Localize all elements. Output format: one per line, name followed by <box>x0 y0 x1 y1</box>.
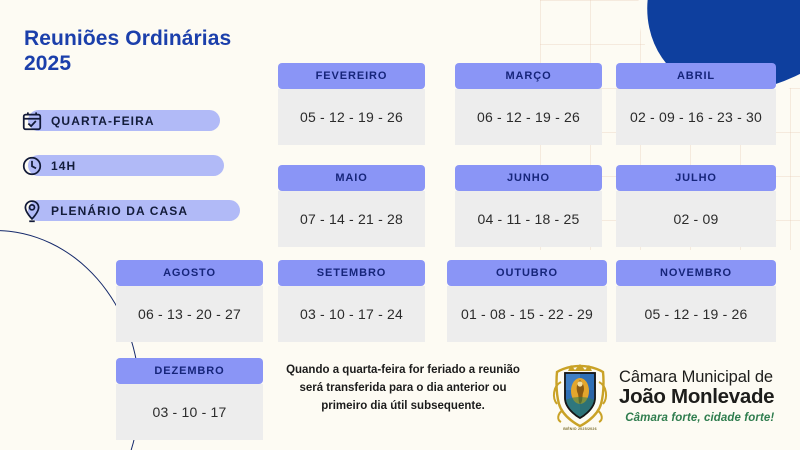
page-title-line-2: 2025 <box>24 52 274 77</box>
info-pill-location: PLENÁRIO DA CASA <box>20 198 255 224</box>
info-pill-weekday-label: QUARTA-FEIRA <box>51 114 155 128</box>
month-card-header: NOVEMBRO <box>616 260 776 286</box>
page-title-line-1: Reuniões Ordinárias <box>24 27 231 50</box>
month-card-agosto[interactable]: AGOSTO 06 - 13 - 20 - 27 <box>116 260 263 342</box>
month-card-dates: 05 - 12 - 19 - 26 <box>278 89 425 145</box>
month-card-dates: 03 - 10 - 17 <box>116 384 263 440</box>
institution-logo: BIÊNIO 2025/2026 Câmara Municipal de Joã… <box>549 360 774 432</box>
month-card-header: SETEMBRO <box>278 260 425 286</box>
holiday-note: Quando a quarta-feira for feriado a reun… <box>272 362 534 415</box>
month-card-header: DEZEMBRO <box>116 358 263 384</box>
emblem-caption: BIÊNIO 2025/2026 <box>549 427 611 431</box>
month-card-dates: 06 - 12 - 19 - 26 <box>455 89 602 145</box>
logo-tagline: Câmara forte, cidade forte! <box>619 412 774 424</box>
logo-line-1: Câmara Municipal de <box>619 368 774 386</box>
month-card-dates: 02 - 09 - 16 - 23 - 30 <box>616 89 776 145</box>
month-card-header: FEVEREIRO <box>278 63 425 89</box>
month-card-julho[interactable]: JULHO 02 - 09 <box>616 165 776 247</box>
month-card-dates: 04 - 11 - 18 - 25 <box>455 191 602 247</box>
month-card-header: OUTUBRO <box>447 260 607 286</box>
month-card-marco[interactable]: MARÇO 06 - 12 - 19 - 26 <box>455 63 602 145</box>
logo-text-block: Câmara Municipal de João Monlevade Câmar… <box>619 368 774 424</box>
month-card-header: ABRIL <box>616 63 776 89</box>
calendar-check-icon <box>20 109 44 133</box>
month-card-dates: 03 - 10 - 17 - 24 <box>278 286 425 342</box>
month-card-abril[interactable]: ABRIL 02 - 09 - 16 - 23 - 30 <box>616 63 776 145</box>
month-card-dates: 06 - 13 - 20 - 27 <box>116 286 263 342</box>
info-pill-list: QUARTA-FEIRA 14H PLENÁRIO DA CASA <box>20 108 255 243</box>
info-pill-time-label: 14H <box>51 159 76 173</box>
month-card-dates: 01 - 08 - 15 - 22 - 29 <box>447 286 607 342</box>
month-card-header: JUNHO <box>455 165 602 191</box>
month-card-dates: 07 - 14 - 21 - 28 <box>278 191 425 247</box>
info-pill-location-label: PLENÁRIO DA CASA <box>51 204 188 218</box>
month-card-novembro[interactable]: NOVEMBRO 05 - 12 - 19 - 26 <box>616 260 776 342</box>
month-card-header: JULHO <box>616 165 776 191</box>
month-card-setembro[interactable]: SETEMBRO 03 - 10 - 17 - 24 <box>278 260 425 342</box>
logo-line-2: João Monlevade <box>619 386 774 409</box>
holiday-note-line-2: será transferida para o dia anterior ou <box>272 380 534 398</box>
month-card-outubro[interactable]: OUTUBRO 01 - 08 - 15 - 22 - 29 <box>447 260 607 342</box>
info-pill-weekday: QUARTA-FEIRA <box>20 108 255 134</box>
month-card-junho[interactable]: JUNHO 04 - 11 - 18 - 25 <box>455 165 602 247</box>
holiday-note-line-3: primeiro dia útil subsequente. <box>272 398 534 416</box>
clock-icon <box>20 154 44 178</box>
page-title: Reuniões Ordinárias 2025 <box>24 27 274 77</box>
month-card-dezembro[interactable]: DEZEMBRO 03 - 10 - 17 <box>116 358 263 440</box>
month-card-fevereiro[interactable]: FEVEREIRO 05 - 12 - 19 - 26 <box>278 63 425 145</box>
month-card-header: AGOSTO <box>116 260 263 286</box>
month-card-header: MAIO <box>278 165 425 191</box>
month-card-dates: 02 - 09 <box>616 191 776 247</box>
month-card-header: MARÇO <box>455 63 602 89</box>
coat-of-arms-icon: BIÊNIO 2025/2026 <box>549 360 611 432</box>
holiday-note-line-1: Quando a quarta-feira for feriado a reun… <box>272 362 534 380</box>
month-card-dates: 05 - 12 - 19 - 26 <box>616 286 776 342</box>
map-pin-icon <box>20 199 44 223</box>
month-card-maio[interactable]: MAIO 07 - 14 - 21 - 28 <box>278 165 425 247</box>
info-pill-time: 14H <box>20 153 255 179</box>
